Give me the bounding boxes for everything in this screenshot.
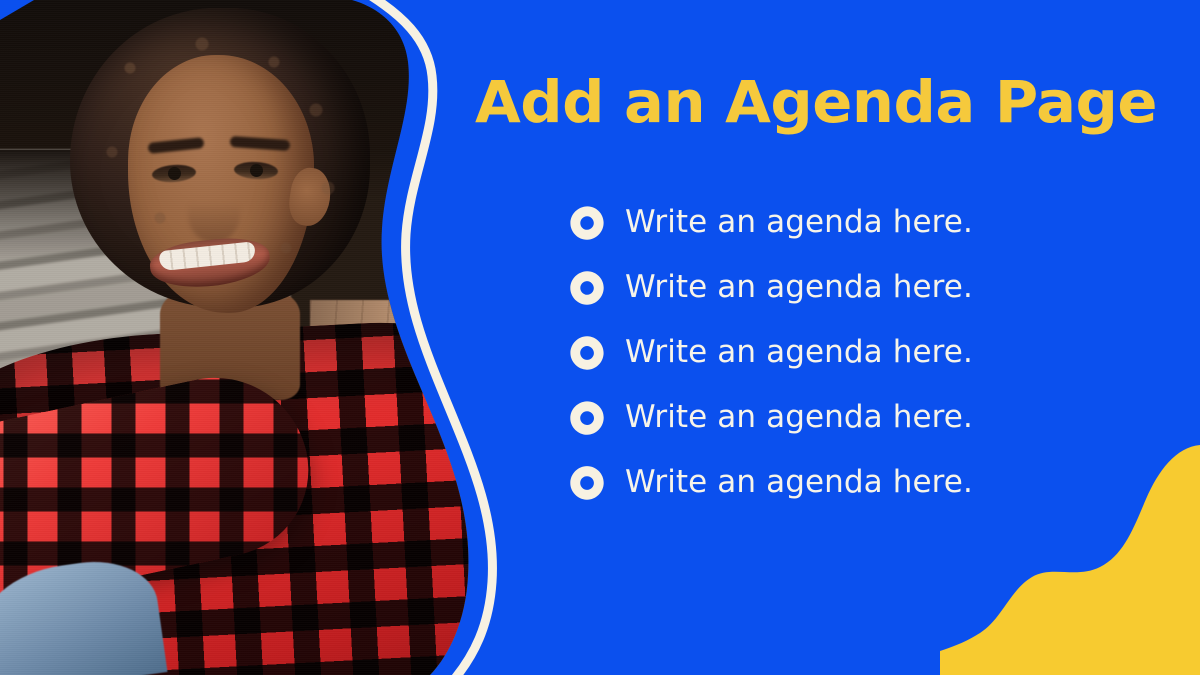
list-item-label: Write an agenda here. [625, 272, 973, 303]
photo-panel [0, 0, 530, 675]
list-item[interactable]: Write an agenda here. [569, 320, 1169, 385]
list-item[interactable]: Write an agenda here. [569, 255, 1169, 320]
photo-portrait [0, 0, 530, 675]
ring-bullet-icon [569, 270, 605, 306]
agenda-slide: Add an Agenda Page Write an agenda here.… [0, 0, 1200, 675]
list-item-label: Write an agenda here. [625, 467, 973, 498]
list-item[interactable]: Write an agenda here. [569, 450, 1169, 515]
ring-bullet-icon [569, 400, 605, 436]
list-item-label: Write an agenda here. [625, 402, 973, 433]
list-item-label: Write an agenda here. [625, 337, 973, 368]
slide-content: Add an Agenda Page Write an agenda here.… [560, 0, 1180, 675]
list-item-label: Write an agenda here. [625, 207, 973, 238]
ring-bullet-icon [569, 465, 605, 501]
list-item[interactable]: Write an agenda here. [569, 385, 1169, 450]
list-item[interactable]: Write an agenda here. [569, 190, 1169, 255]
ring-bullet-icon [569, 335, 605, 371]
blue-corner-wedge-icon [0, 0, 34, 20]
ring-bullet-icon [569, 205, 605, 241]
agenda-list: Write an agenda here. Write an agenda he… [569, 190, 1169, 515]
page-title: Add an Agenda Page [459, 72, 1173, 133]
